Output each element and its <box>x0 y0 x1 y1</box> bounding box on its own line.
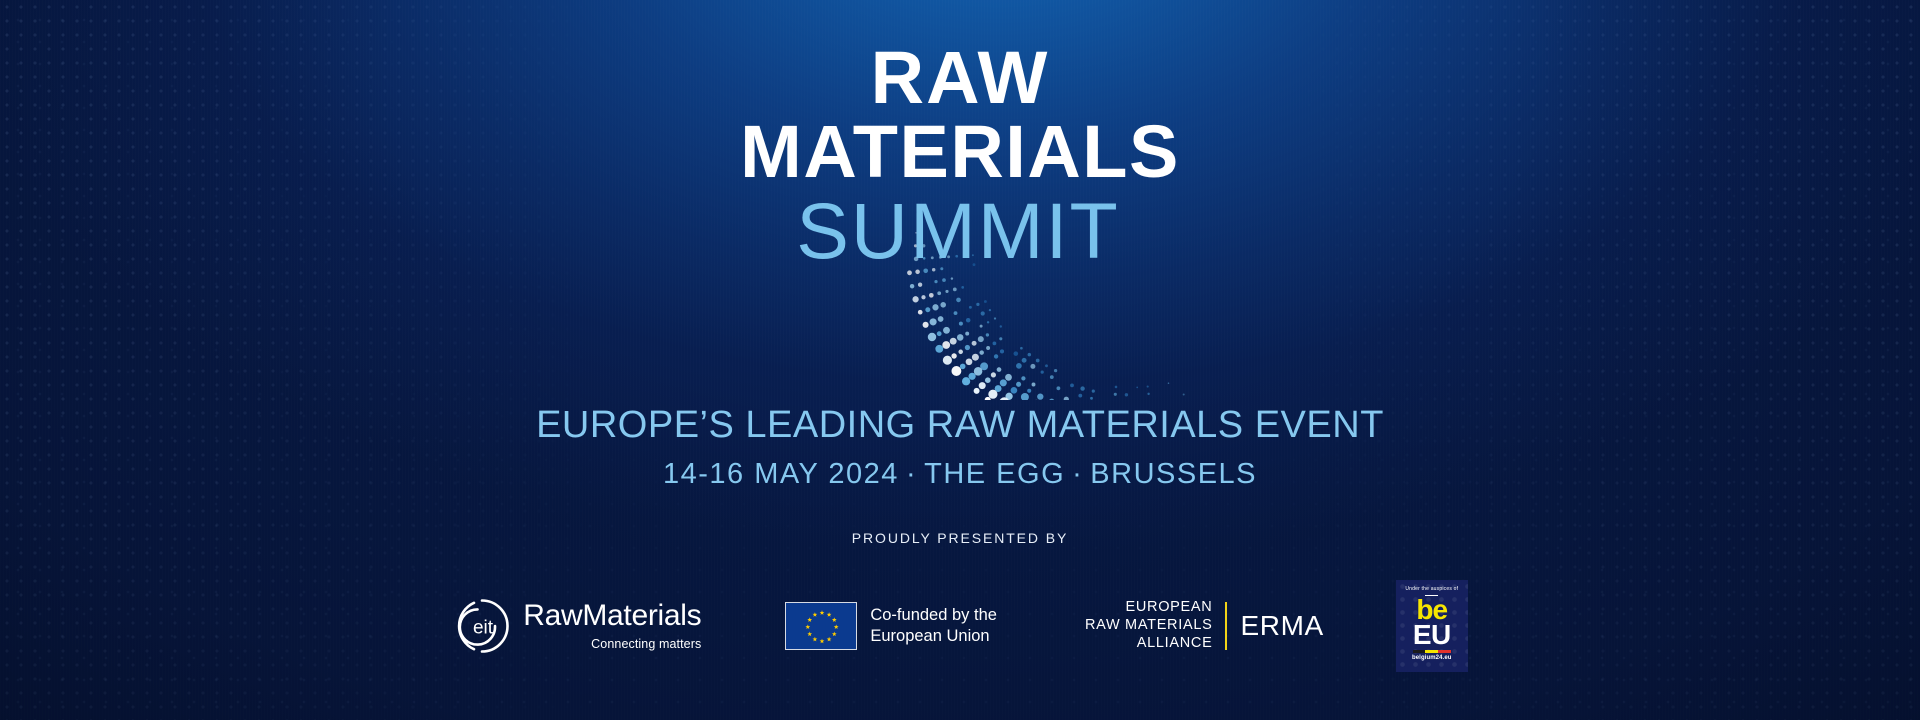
event-title-block: RAW MATERIALS SUMMIT <box>0 44 1920 270</box>
eit-circle-logo-icon: eit <box>452 596 512 656</box>
erma-line1: EUROPEAN <box>1085 599 1213 617</box>
eit-tagline: Connecting matters <box>523 637 701 651</box>
title-line-materials: MATERIALS <box>0 118 1920 187</box>
erma-full-name: EUROPEAN RAW MATERIALS ALLIANCE <box>1085 599 1213 652</box>
erma-acronym: ERMA <box>1240 610 1323 642</box>
eu-funding-text: Co-funded by the European Union <box>870 605 997 647</box>
presented-by-label: PROUDLY PRESENTED BY <box>0 530 1920 546</box>
banner-content: RAW MATERIALS SUMMIT EUROPE’S LEADING RA… <box>0 0 1920 720</box>
separator-dot-1: · <box>899 458 924 490</box>
belgium-url: belgium24.eu <box>1412 655 1452 661</box>
raw-materials-summit-banner: RAW MATERIALS SUMMIT EUROPE’S LEADING RA… <box>0 0 1920 720</box>
eit-wordmark: RawMaterials <box>523 601 701 631</box>
eu-flag-icon <box>785 602 857 650</box>
eit-wordmark-block: RawMaterials Connecting matters <box>523 601 701 651</box>
event-city: BRUSSELS <box>1090 458 1257 490</box>
sponsor-logo-row: eit RawMaterials Connecting matters Co-f… <box>0 566 1920 686</box>
sponsor-logo-european-union[interactable]: Co-funded by the European Union <box>785 602 997 650</box>
separator-dot-2: · <box>1065 458 1090 490</box>
eu-funding-line1: Co-funded by the <box>870 605 997 626</box>
eu-stars <box>786 603 858 651</box>
belgium-logo-inner: Under the auspices of be EU belgium24.eu <box>1400 587 1464 661</box>
belgium-auspices-label: Under the auspices of <box>1405 587 1458 593</box>
event-tagline: EUROPE’S LEADING RAW MATERIALS EVENT <box>0 404 1920 447</box>
title-line-summit: SUMMIT <box>0 191 1916 270</box>
erma-line2: RAW MATERIALS <box>1085 617 1213 635</box>
erma-divider <box>1225 602 1227 650</box>
belgium-tricolor <box>1413 650 1451 653</box>
sponsor-logo-erma[interactable]: EUROPEAN RAW MATERIALS ALLIANCE ERMA <box>1085 599 1324 652</box>
event-venue: THE EGG <box>924 458 1065 490</box>
sponsor-logo-belgium-eu-presidency[interactable]: Under the auspices of be EU belgium24.eu <box>1396 580 1468 672</box>
event-date-venue-line: 14-16 MAY 2024·THE EGG·BRUSSELS <box>0 458 1920 491</box>
title-line-raw: RAW <box>0 44 1920 113</box>
event-date: 14-16 MAY 2024 <box>663 458 899 490</box>
belgium-eu-text: EU <box>1413 622 1451 647</box>
sponsor-logo-eit-rawmaterials[interactable]: eit RawMaterials Connecting matters <box>452 596 701 656</box>
erma-line3: ALLIANCE <box>1085 635 1213 653</box>
eu-funding-line2: European Union <box>870 626 997 647</box>
svg-text:eit: eit <box>473 618 494 639</box>
